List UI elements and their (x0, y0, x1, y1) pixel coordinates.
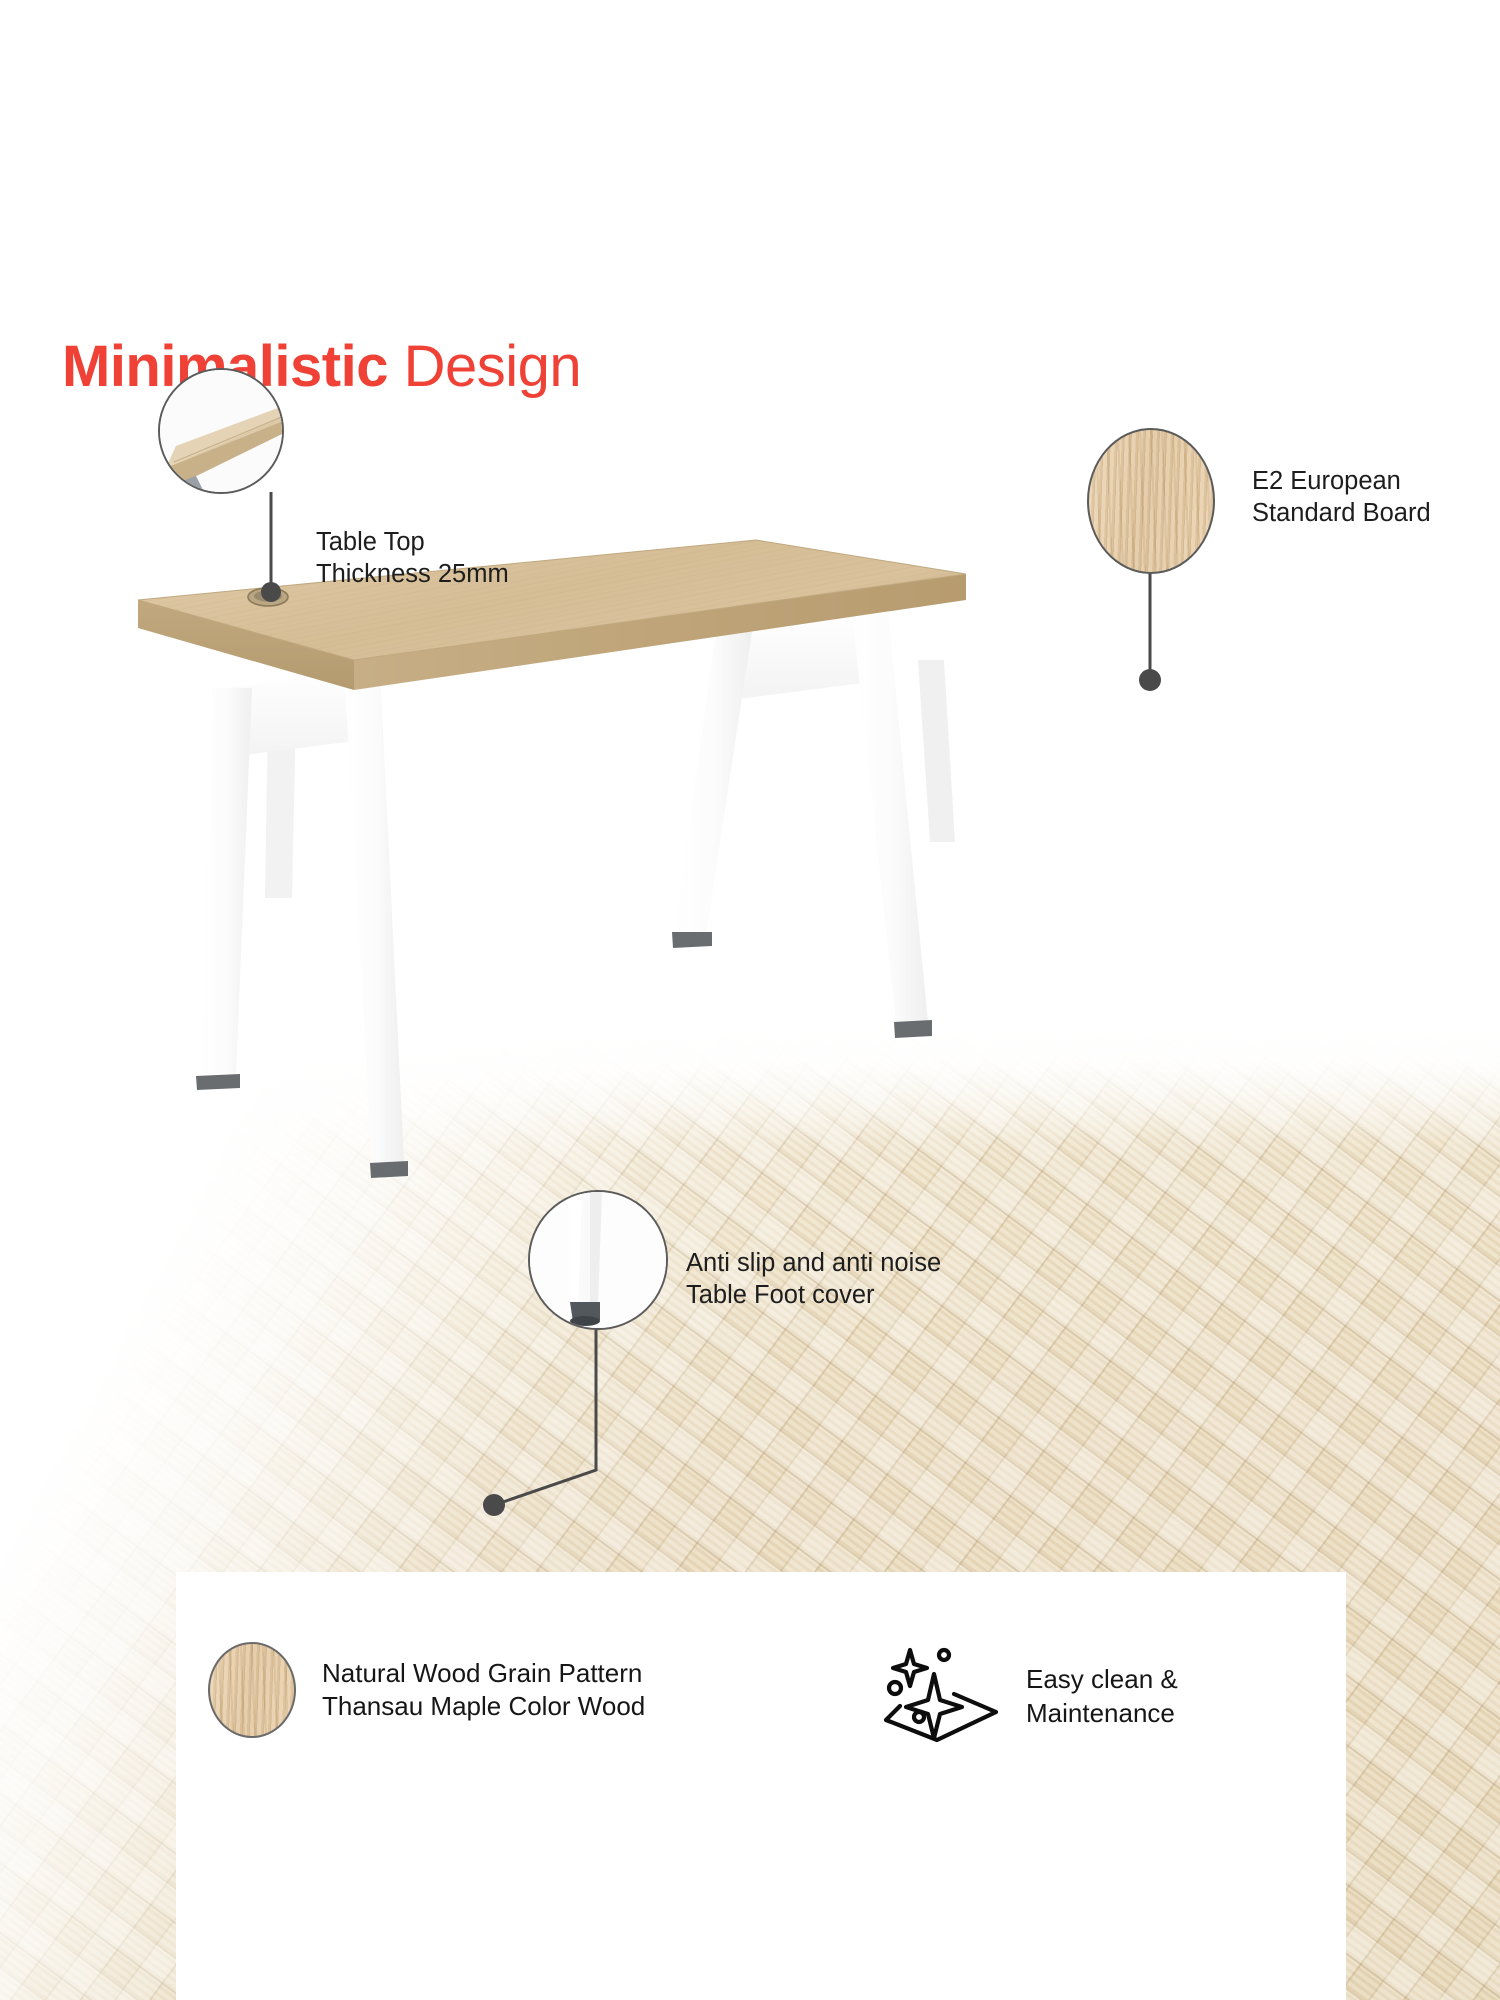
callout-label-anti-slip: Anti slip and anti noise Table Foot cove… (686, 1247, 941, 1311)
desk-rear-legs (265, 660, 955, 898)
features-panel: Natural Wood Grain Pattern Thansau Maple… (176, 1572, 1346, 2000)
feature-easy-clean: Easy clean & Maintenance (882, 1644, 1178, 1749)
feature-wood-grain: Natural Wood Grain Pattern Thansau Maple… (208, 1642, 645, 1738)
page-title: Minimalistic Design (62, 338, 581, 396)
callout-circle-anti-slip (528, 1190, 668, 1330)
callout-circle-table-top (158, 368, 284, 494)
wood-swatch-icon (208, 1642, 296, 1738)
callout-label-table-top: Table Top Thickness 25mm (316, 526, 509, 590)
desk-table-top (138, 540, 966, 690)
title-regular-part: Design (388, 334, 581, 399)
callout-circle-e2-board (1087, 428, 1215, 574)
desk-right-leg (672, 610, 932, 1038)
feature-label-wood-grain: Natural Wood Grain Pattern Thansau Maple… (322, 1657, 645, 1724)
callout-label-e2-board: E2 European Standard Board (1252, 465, 1431, 529)
feature-label-easy-clean: Easy clean & Maintenance (1026, 1663, 1178, 1730)
sparkle-surface-icon (882, 1644, 1000, 1749)
infographic-page: Minimalistic Design (0, 0, 1500, 2000)
floor-fade-mask (0, 1020, 1500, 1140)
